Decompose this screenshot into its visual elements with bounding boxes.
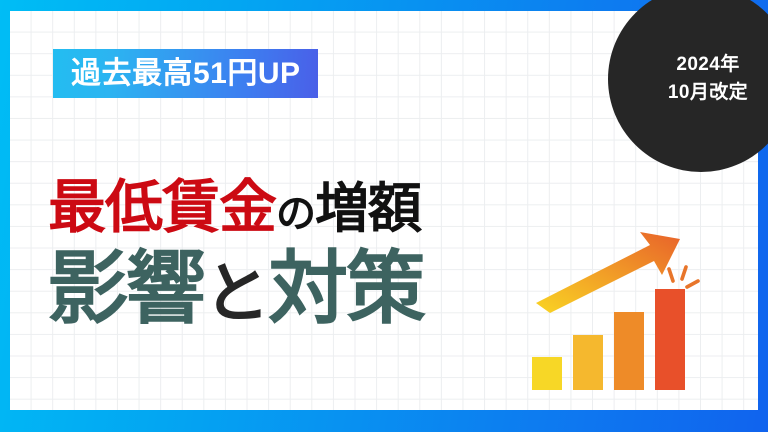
date-badge-revision: 10月改定 [668,79,748,107]
date-badge-year: 2024年 [676,51,739,79]
headline-rest-text: 増額 [315,179,421,239]
headline-subject-two-text: 対策 [268,244,424,333]
headline-emphasis-text: 最低賃金 [48,175,276,240]
bar-1 [532,357,562,390]
headline-block: 最低賃金の増額 影響と対策 [48,179,424,329]
poster-canvas: 過去最高51円UP 最低賃金の増額 影響と対策 [0,0,768,432]
headline-line-1: 最低賃金の増額 [48,179,424,237]
highlight-badge: 過去最高51円UP [53,49,318,98]
bar-3 [614,312,644,390]
bar-4 [655,289,685,390]
sparkle-icon [669,267,698,287]
highlight-badge-label: 過去最高51円UP [71,59,301,89]
headline-conjunction-text: と [204,256,268,330]
headline-line-2: 影響と対策 [48,249,424,329]
bar-2 [573,335,603,390]
bar-chart-icon [510,217,720,397]
headline-particle-text: の [276,192,315,236]
headline-subject-one-text: 影響 [48,244,204,333]
rising-bar-chart-illustration [510,217,720,397]
